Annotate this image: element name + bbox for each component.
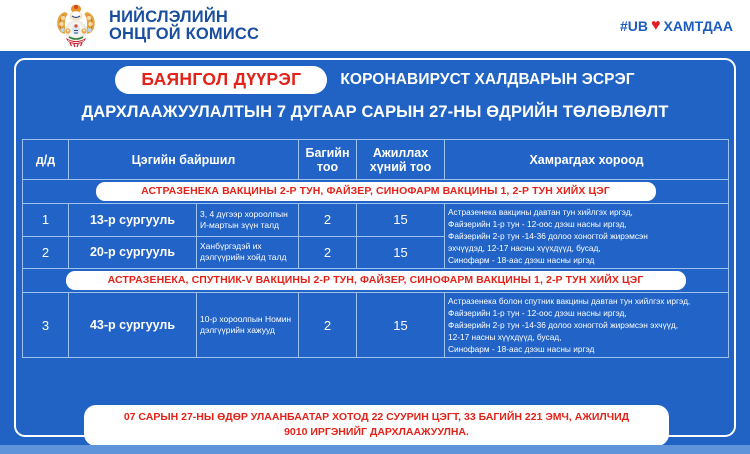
schedule-table-wrapper: д/д Цэгийн байршил Багийн тоо Ажиллах хү… [22,139,728,358]
poster-canvas: НИЙСЛЭЛИЙН ОНЦГОЙ КОМИСС #UB ♥ ХАМТДАА Б… [0,0,750,454]
cell-eligibility-detail: Астразенека вакцины давтан тун хийлгэх и… [445,204,729,269]
hashtag-campaign: #UB ♥ ХАМТДАА [620,18,733,34]
cell-location-note: Ханбүргэдэй их дэлгүүрийн хойд талд [197,236,299,269]
detail-line: Файзерийн 2-р тун -14-36 долоо хоногтой … [448,319,725,331]
detail-line: Файзерийн 1-р тун - 12-оос дээш насны ир… [448,218,725,230]
detail-line: Астразенека вакцины давтан тун хийлгэх и… [448,206,725,218]
column-header-staff: Ажиллах хүний тоо [357,140,445,180]
cell-staff: 15 [357,204,445,237]
brand-block: НИЙСЛЭЛИЙН ОНЦГОЙ КОМИСС [52,2,259,50]
cell-eligibility-detail: Астразенека болон спутник вакцины давтан… [445,293,729,358]
cell-index: 2 [23,236,69,269]
heart-icon: ♥ [651,18,661,34]
detail-line: Файзерийн 1-р тун - 12-оос дээш насны ир… [448,307,725,319]
cell-teams: 2 [299,204,357,237]
column-header-khoroo: Хамрагдах хороод [445,140,729,180]
table-row: 1 13-р сургууль 3, 4 дүгээр хороолпын И-… [23,204,729,237]
table-header-row: д/д Цэгийн байршил Багийн тоо Ажиллах хү… [23,140,729,180]
detail-line: Астразенека болон спутник вакцины давтан… [448,295,725,307]
summary-line-2: 9010 ИРГЭНИЙГ ДАРХЛААЖУУЛНА. [96,425,657,440]
summary-line-1: 07 САРЫН 27-НЫ ӨДӨР УЛААНБААТАР ХОТОД 22… [96,410,657,425]
cell-location-note: 3, 4 дүгээр хороолпын И-мартын зүүн талд [197,204,299,237]
schedule-table: д/д Цэгийн байршил Багийн тоо Ажиллах хү… [22,139,729,358]
cell-staff: 15 [357,236,445,269]
section-banner-row: АСТРАЗЕНЕКА, СПУТНИК-V ВАКЦИНЫ 2-Р ТУН, … [23,269,729,293]
title-row-primary: БАЯНГОЛ ДҮҮРЭГ КОРОНАВИРУСТ ХАЛДВАРЫН ЭС… [24,66,726,94]
table-row: 3 43-р сургууль 10-р хороолпын Номин дэл… [23,293,729,358]
cell-place: 20-р сургууль [69,236,197,269]
section-banner-text: АСТРАЗЕНЕКА ВАКЦИНЫ 2-Р ТУН, ФАЙЗЕР, СИН… [96,182,656,201]
detail-line: Синофарм - 18-аас дээш насны иргэд [448,343,725,355]
cell-index: 3 [23,293,69,358]
district-badge: БАЯНГОЛ ДҮҮРЭГ [115,66,327,94]
column-header-location: Цэгийн байршил [69,140,299,180]
section-banner-text: АСТРАЗЕНЕКА, СПУТНИК-V ВАКЦИНЫ 2-Р ТУН, … [66,271,686,290]
brand-line-1: НИЙСЛЭЛИЙН [109,9,259,26]
section-banner-row: АСТРАЗЕНЕКА ВАКЦИНЫ 2-Р ТУН, ФАЙЗЕР, СИН… [23,180,729,204]
cell-place: 43-р сургууль [69,293,197,358]
page-title-line-2: ДАРХЛААЖУУЛАЛТЫН 7 ДУГААР САРЫН 27-НЫ ӨД… [24,103,726,122]
hashtag-prefix: #UB [620,18,648,34]
cell-place: 13-р сургууль [69,204,197,237]
detail-line: Синофарм - 18-аас дээш насны иргэд [448,254,725,266]
hashtag-suffix: ХАМТДАА [663,18,733,34]
table-head: д/д Цэгийн байршил Багийн тоо Ажиллах хү… [23,140,729,180]
page-title-line-1: КОРОНАВИРУСТ ХАЛДВАРЫН ЭСРЭГ [340,71,634,89]
bottom-accent-strip [0,445,750,454]
ulaanbaatar-coat-of-arms-icon [52,2,100,50]
section-banner-cell: АСТРАЗЕНЕКА ВАКЦИНЫ 2-Р ТУН, ФАЙЗЕР, СИН… [23,180,729,204]
brand-line-2: ОНЦГОЙ КОМИСС [109,26,259,43]
cell-location-note: 10-р хороолпын Номин дэлгүүрийн хажууд [197,293,299,358]
cell-index: 1 [23,204,69,237]
table-body: АСТРАЗЕНЕКА ВАКЦИНЫ 2-Р ТУН, ФАЙЗЕР, СИН… [23,180,729,358]
header-band: НИЙСЛЭЛИЙН ОНЦГОЙ КОМИСС #UB ♥ ХАМТДАА [0,0,750,51]
cell-staff: 15 [357,293,445,358]
title-block: БАЯНГОЛ ДҮҮРЭГ КОРОНАВИРУСТ ХАЛДВАРЫН ЭС… [24,66,726,122]
detail-line: 12-17 насны хүүхдүүд, бусад, [448,331,725,343]
detail-line: эхчүүдэд, 12-17 насны хүүхдүүд, бусад, [448,242,725,254]
cell-teams: 2 [299,236,357,269]
detail-line: Файзерийн 2-р тун -14-36 долоо хоногтой … [448,230,725,242]
section-banner-cell: АСТРАЗЕНЕКА, СПУТНИК-V ВАКЦИНЫ 2-Р ТУН, … [23,269,729,293]
summary-banner: 07 САРЫН 27-НЫ ӨДӨР УЛААНБААТАР ХОТОД 22… [84,405,669,446]
column-header-teams: Багийн тоо [299,140,357,180]
column-header-index: д/д [23,140,69,180]
brand-text: НИЙСЛЭЛИЙН ОНЦГОЙ КОМИСС [109,9,259,43]
cell-teams: 2 [299,293,357,358]
